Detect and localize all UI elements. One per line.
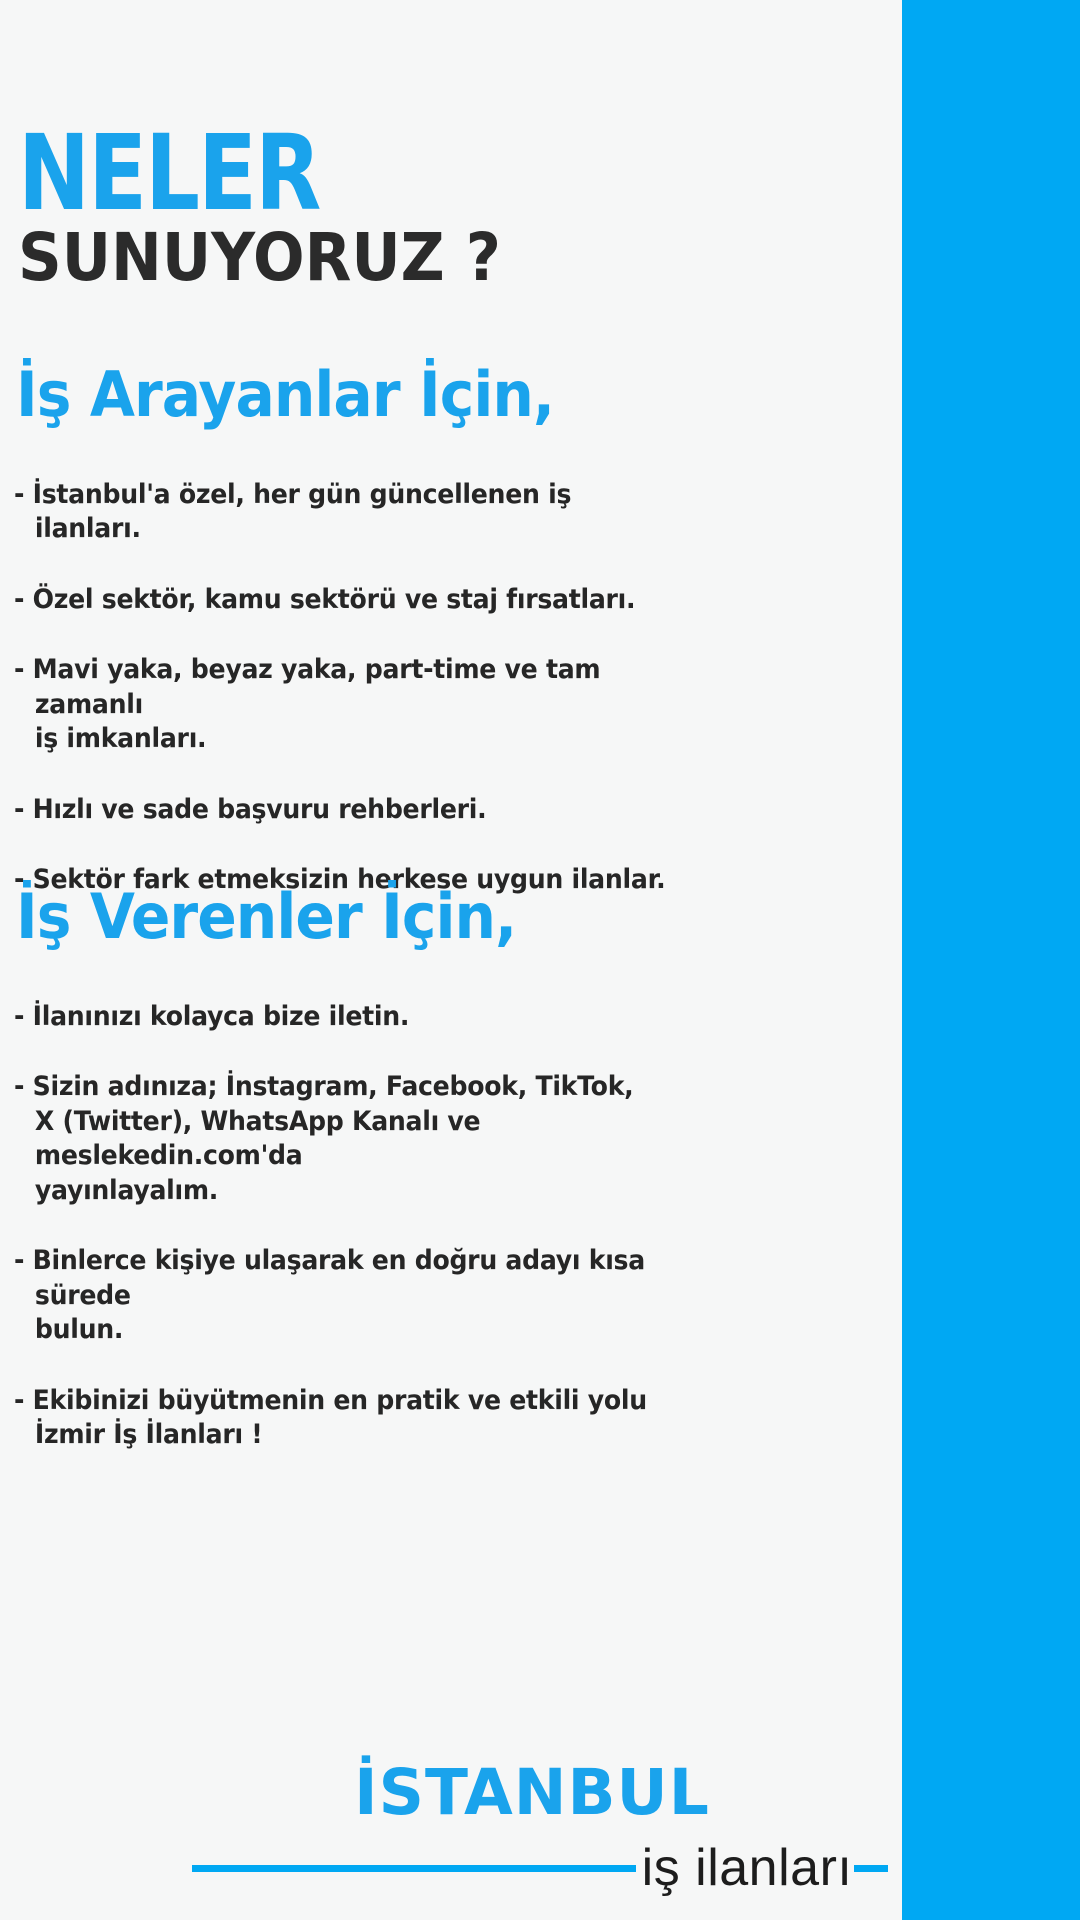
list-item: - Binlerce kişiye ulaşarak en doğru aday…: [14, 1244, 679, 1347]
headline-line-2: SUNUYORUZ ?: [18, 228, 501, 289]
list-item: - Özel sektör, kamu sektörü ve staj fırs…: [14, 583, 679, 617]
logo-rule-left: [192, 1865, 636, 1872]
list-item: - Sizin adınıza; İnstagram, Facebook, Ti…: [14, 1070, 679, 1208]
list-item: - Mavi yaka, beyaz yaka, part-time ve ta…: [14, 653, 679, 756]
list-item: - İstanbul'a özel, her gün güncellenen i…: [14, 478, 679, 547]
right-blue-band: [902, 0, 1080, 1920]
logo-tagline-text: iş ilanları: [642, 1842, 853, 1894]
logo-brand-row: İSTANBUL: [0, 1756, 1080, 1829]
bullet-list-employers: - İlanınızı kolayca bize iletin. - Sizin…: [14, 1000, 714, 1488]
page-title: NELER SUNUYORUZ ?: [18, 126, 543, 288]
logo-tagline-row: iş ilanları: [0, 1842, 1080, 1894]
bullet-list-job-seekers: - İstanbul'a özel, her gün güncellenen i…: [14, 478, 714, 934]
poster-canvas: NELER SUNUYORUZ ? İş Arayanlar İçin, - İ…: [0, 0, 1080, 1920]
list-item: - Hızlı ve sade başvuru rehberleri.: [14, 793, 679, 827]
list-item: - İlanınızı kolayca bize iletin.: [14, 1000, 679, 1034]
logo-rule-right: [854, 1865, 888, 1872]
section-heading-employers: İş Verenler İçin,: [16, 880, 516, 953]
logo-brand-text: İSTANBUL: [354, 1756, 710, 1829]
section-heading-job-seekers: İş Arayanlar İçin,: [16, 358, 554, 431]
list-item: - Ekibinizi büyütmenin en pratik ve etki…: [14, 1384, 679, 1453]
headline-line-1: NELER: [18, 126, 501, 222]
footer-logo: İSTANBUL iş ilanları: [0, 1756, 1080, 1920]
